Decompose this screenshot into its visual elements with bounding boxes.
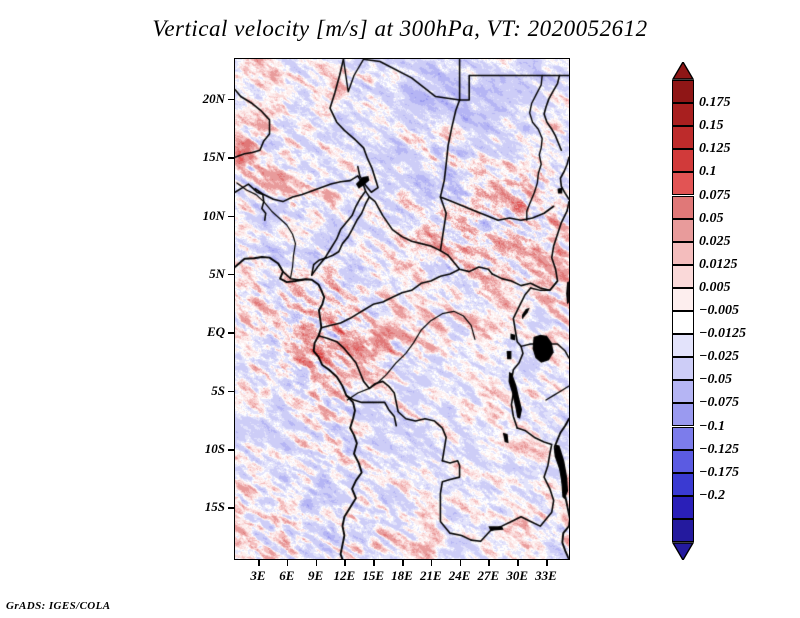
colorbar-segment bbox=[672, 334, 694, 357]
x-tick bbox=[460, 560, 462, 566]
x-tick bbox=[402, 560, 404, 566]
x-axis-label: 9E bbox=[308, 568, 323, 584]
x-tick bbox=[488, 560, 490, 566]
colorbar-arrow-top bbox=[672, 62, 694, 80]
y-axis-label: 5S bbox=[211, 383, 225, 399]
x-tick bbox=[517, 560, 519, 566]
y-tick bbox=[228, 391, 234, 393]
x-tick bbox=[431, 560, 433, 566]
y-axis-label: 5N bbox=[209, 266, 225, 282]
x-tick bbox=[344, 560, 346, 566]
colorbar-segment bbox=[672, 403, 694, 426]
colorbar-segment bbox=[672, 196, 694, 219]
x-axis-label: 24E bbox=[449, 568, 471, 584]
colorbar-label: 0.125 bbox=[699, 141, 731, 157]
colorbar-label: 0.05 bbox=[699, 211, 724, 227]
y-axis-label: EQ bbox=[207, 324, 225, 340]
y-tick bbox=[228, 507, 234, 509]
colorbar-segment bbox=[672, 288, 694, 311]
colorbar-label: −0.005 bbox=[699, 303, 739, 319]
footer-credit: GrADS: IGES/COLA bbox=[6, 600, 111, 612]
colorbar-label: −0.025 bbox=[699, 349, 739, 365]
y-tick bbox=[228, 99, 234, 101]
colorbar-segment bbox=[672, 473, 694, 496]
colorbar-label: −0.05 bbox=[699, 372, 732, 388]
y-axis-label: 10S bbox=[205, 441, 225, 457]
x-axis-label: 15E bbox=[362, 568, 384, 584]
y-axis-label: 15S bbox=[205, 499, 225, 515]
colorbar-label: 0.1 bbox=[699, 164, 717, 180]
x-axis-label: 30E bbox=[506, 568, 528, 584]
colorbar-segment bbox=[672, 149, 694, 172]
map-plot-area: 20N15N10N5NEQ5S10S15S 3E6E9E12E15E18E21E… bbox=[234, 58, 570, 560]
colorbar-label: −0.075 bbox=[699, 395, 739, 411]
colorbar-segment bbox=[672, 311, 694, 334]
y-tick bbox=[228, 274, 234, 276]
colorbar-segment bbox=[672, 219, 694, 242]
x-axis-label: 33E bbox=[535, 568, 557, 584]
colorbar-label: 0.005 bbox=[699, 280, 731, 296]
y-tick bbox=[228, 216, 234, 218]
colorbar-label: −0.175 bbox=[699, 465, 739, 481]
colorbar-segment bbox=[672, 80, 694, 103]
colorbar-segment bbox=[672, 265, 694, 288]
grads-figure: Vertical velocity [m/s] at 300hPa, VT: 2… bbox=[0, 0, 800, 618]
x-tick bbox=[258, 560, 260, 566]
colorbar-label: −0.0125 bbox=[699, 326, 746, 342]
colorbar-segment bbox=[672, 242, 694, 265]
y-axis-label: 15N bbox=[203, 149, 225, 165]
y-axis-label: 10N bbox=[203, 208, 225, 224]
colorbar-segment bbox=[672, 496, 694, 519]
colorbar-arrow-bottom bbox=[672, 542, 694, 560]
page-title: Vertical velocity [m/s] at 300hPa, VT: 2… bbox=[0, 16, 800, 42]
x-tick bbox=[546, 560, 548, 566]
x-axis-label: 6E bbox=[279, 568, 294, 584]
colorbar-label: −0.1 bbox=[699, 419, 725, 435]
colorbar-segment bbox=[672, 519, 694, 542]
colorbar-segment bbox=[672, 427, 694, 450]
colorbar-label: 0.075 bbox=[699, 188, 731, 204]
colorbar-segment bbox=[672, 380, 694, 403]
y-tick bbox=[228, 449, 234, 451]
x-tick bbox=[316, 560, 318, 566]
colorbar-label: 0.175 bbox=[699, 95, 731, 111]
x-axis-label: 18E bbox=[391, 568, 413, 584]
colorbar: 0.1750.150.1250.10.0750.050.0250.01250.0… bbox=[672, 62, 694, 560]
x-axis-label: 12E bbox=[334, 568, 356, 584]
colorbar-label: −0.125 bbox=[699, 442, 739, 458]
vertical-velocity-field bbox=[234, 58, 570, 560]
colorbar-label: 0.025 bbox=[699, 234, 731, 250]
x-tick bbox=[287, 560, 289, 566]
colorbar-label: 0.0125 bbox=[699, 257, 738, 273]
colorbar-segment bbox=[672, 357, 694, 380]
x-axis-label: 21E bbox=[420, 568, 442, 584]
colorbar-label: −0.2 bbox=[699, 488, 725, 504]
y-tick bbox=[228, 332, 234, 334]
x-tick bbox=[373, 560, 375, 566]
colorbar-segment bbox=[672, 126, 694, 149]
x-axis-label: 3E bbox=[250, 568, 265, 584]
colorbar-segment bbox=[672, 103, 694, 126]
y-tick bbox=[228, 157, 234, 159]
x-axis-label: 27E bbox=[478, 568, 500, 584]
y-axis-label: 20N bbox=[203, 91, 225, 107]
colorbar-segment bbox=[672, 172, 694, 195]
colorbar-segment bbox=[672, 450, 694, 473]
colorbar-label: 0.15 bbox=[699, 118, 724, 134]
